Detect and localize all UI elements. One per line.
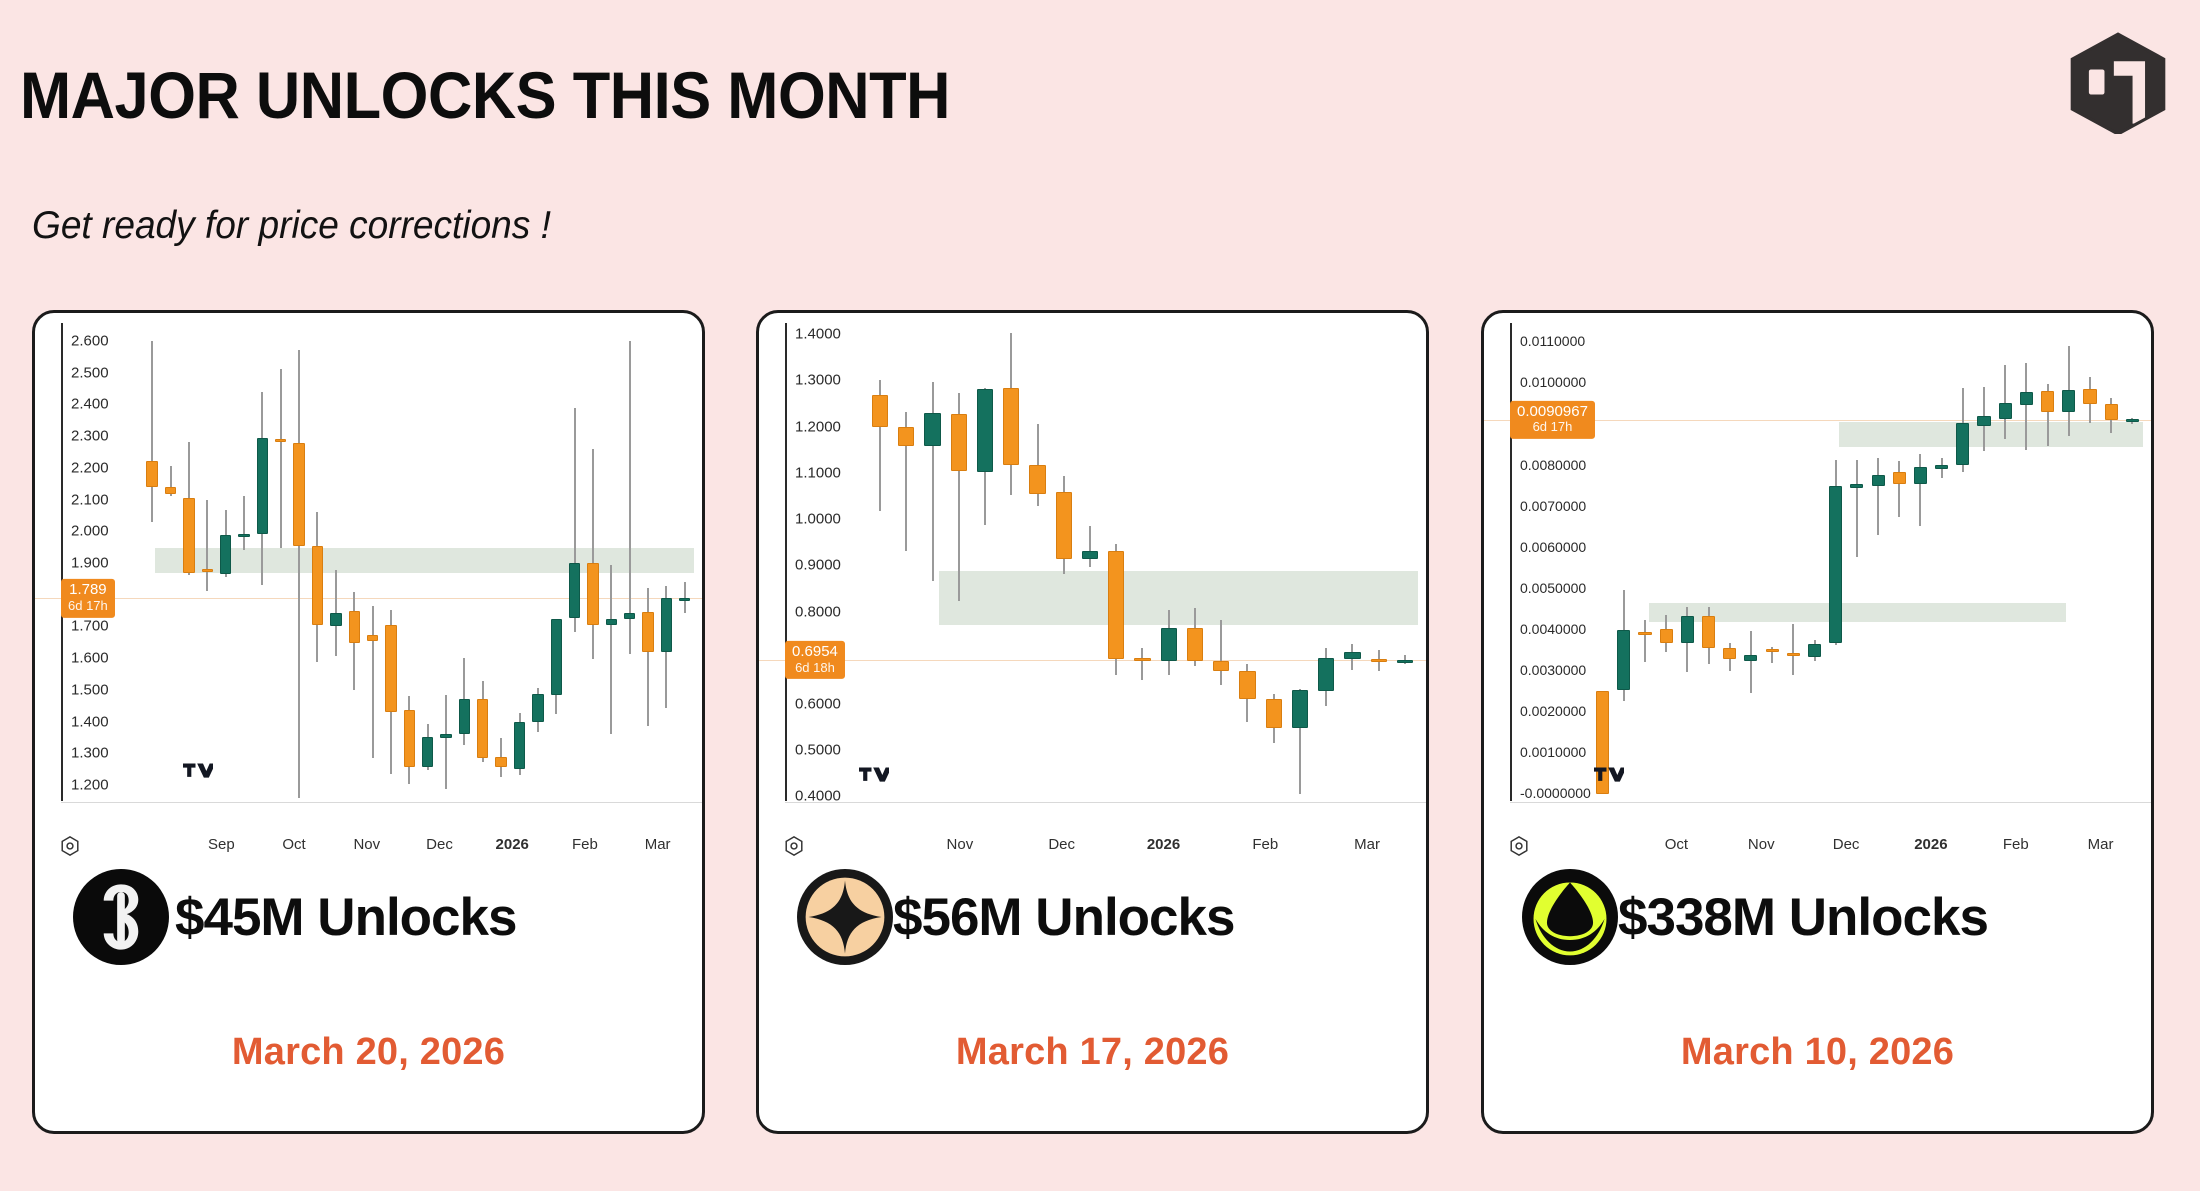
candle-body [951,414,967,471]
candlestick [1029,313,1045,873]
x-axis-line [61,802,702,803]
y-axis-line [785,323,787,801]
candle-body [312,546,323,625]
candle-wick [1141,648,1143,680]
candlestick [1134,313,1150,873]
candle-wick [629,341,631,655]
poster-root: MAJOR UNLOCKS THIS MONTH Get ready for p… [0,0,2200,1191]
y-axis-tick: 1.4000 [795,326,841,343]
candlestick [257,313,268,873]
candlestick [1266,313,1282,873]
candle-wick [1898,461,1900,517]
clock-icon[interactable] [1508,835,1530,857]
candlestick [1681,313,1694,873]
candle-body [1999,403,2012,419]
y-axis-tick: 2.400 [71,396,109,413]
candle-wick [372,606,374,758]
candlestick [1872,313,1885,873]
y-axis-tick: 0.5000 [795,742,841,759]
x-axis-tick: Dec [426,836,453,853]
candle-body [1977,416,1990,426]
coin-row-1: $45M Unlocks [35,869,702,965]
y-axis-tick: 0.6000 [795,695,841,712]
candle-body [661,598,672,653]
candlestick [183,313,194,873]
y-axis-tick: 2.600 [71,332,109,349]
candle-body [1003,388,1019,465]
candle-body [1344,652,1360,658]
candle-body [1829,486,1842,643]
candlestick [951,313,967,873]
candle-wick [1792,624,1794,675]
y-axis-tick: 0.0110000 [1520,333,1585,349]
candle-body [1850,484,1863,488]
y-axis-tick: 0.0040000 [1520,621,1586,637]
candle-body [202,569,213,572]
candlestick [1999,313,2012,873]
candle-wick [1750,631,1752,693]
candle-body [404,710,415,768]
current-price-tag[interactable]: 0.00909676d 17h [1510,400,1595,438]
candlestick [606,313,617,873]
candle-body [257,438,268,535]
candlestick [1344,313,1360,873]
candle-body [2105,404,2118,420]
price-chart-3[interactable]: 0.01100000.01000000.00800000.00700000.00… [1484,313,2151,873]
candlestick [1371,313,1387,873]
candle-body [385,625,396,712]
candle-body [2083,389,2096,404]
candle-body [1702,616,1715,649]
candlestick [238,313,249,873]
price-chart-2[interactable]: 1.40001.30001.20001.10001.00000.90000.80… [759,313,1426,873]
current-price-tag[interactable]: 1.7896d 17h [61,579,115,617]
candlestick [220,313,231,873]
x-axis-tick: Mar [2088,836,2114,853]
candlestick [146,313,157,873]
y-axis-tick: 2.500 [71,364,109,381]
candle-body [275,439,286,442]
candlestick [1187,313,1203,873]
candlestick [1082,313,1098,873]
candlestick [1239,313,1255,873]
candlestick [1893,313,1906,873]
candle-wick [592,449,594,658]
unlock-card-2[interactable]: 1.40001.30001.20001.10001.00000.90000.80… [756,310,1429,1134]
candle-body [642,612,653,652]
hexagon-brand-logo [2064,30,2172,134]
candle-body [330,613,341,626]
y-axis-tick: -0.0000000 [1520,785,1591,801]
candle-body [1617,630,1630,690]
candlestick [2020,313,2033,873]
candlestick [1935,313,1948,873]
candle-wick [445,695,447,789]
candle-body [898,427,914,446]
y-axis-tick: 1.500 [71,681,109,698]
y-axis-tick: 0.0060000 [1520,539,1586,555]
candle-wick [1089,526,1091,568]
x-axis-tick: Nov [947,836,974,853]
pyth-network-coin-icon [1522,869,1618,965]
y-axis-tick: 0.0070000 [1520,498,1586,514]
y-axis-tick: 0.0030000 [1520,662,1586,678]
tradingview-logo [183,761,213,781]
current-price-value: 0.0090967 [1517,402,1588,419]
candle-body [1914,467,1927,484]
candlestick-plot-1 [35,313,702,873]
candlestick [2105,313,2118,873]
candlestick [1956,313,1969,873]
candle-body [238,534,249,537]
candlestick [275,313,286,873]
candlestick [587,313,598,873]
candlestick [1638,313,1651,873]
y-axis-tick: 1.700 [71,618,109,635]
unlock-card-3[interactable]: 0.01100000.01000000.00800000.00700000.00… [1481,310,2154,1134]
candle-body [551,619,562,695]
candle-body [1787,653,1800,656]
candlestick [514,313,525,873]
candlestick [1397,313,1413,873]
candle-body [1872,475,1885,486]
unlock-amount-label: $56M Unlocks [893,887,1234,948]
x-axis-tick: Feb [572,836,598,853]
candlestick [312,313,323,873]
y-axis-tick: 0.8000 [795,603,841,620]
x-axis-tick: Oct [1665,836,1688,853]
candle-wick [298,350,300,798]
y-axis-tick: 0.0010000 [1520,744,1586,760]
y-axis-tick: 0.9000 [795,557,841,574]
unlock-countdown: 6d 17h [1517,420,1588,435]
y-axis-tick: 1.2000 [795,418,841,435]
candle-body [587,563,598,625]
candlestick [661,313,672,873]
candlestick [551,313,562,873]
candle-body [1134,658,1150,661]
candle-body [2041,391,2054,412]
candle-body [606,619,617,624]
candle-body [1082,551,1098,558]
candle-body [459,699,470,734]
candle-body [1397,660,1413,663]
candle-wick [610,565,612,734]
candlestick [440,313,451,873]
candle-body [1893,472,1906,484]
candle-wick [280,369,282,548]
current-price-value: 0.6954 [792,643,838,660]
unlock-date-label: March 10, 2026 [1484,1031,2151,1074]
candle-wick [1919,454,1921,526]
tradingview-logo [1594,765,1624,785]
candlestick [977,313,993,873]
candle-body [1371,659,1387,662]
unlock-countdown: 6d 17h [68,599,108,614]
x-axis-tick: Mar [645,836,671,853]
x-axis-tick: Feb [2003,836,2029,853]
candlestick [624,313,635,873]
x-axis-tick: Feb [1252,836,1278,853]
current-price-value: 1.789 [69,581,107,598]
candlestick [1660,313,1673,873]
candle-body [1744,655,1757,661]
candle-body [146,461,157,487]
candlestick [569,313,580,873]
candle-body [422,737,433,767]
candle-body [1808,644,1821,656]
y-axis-tick: 1.3000 [795,372,841,389]
unlock-amount-label: $45M Unlocks [175,887,516,948]
candlestick [349,313,360,873]
y-axis-tick: 2.000 [71,523,109,540]
candle-body [1213,661,1229,671]
unlock-amount-label: $338M Unlocks [1618,887,1988,948]
candle-body [477,699,488,758]
candlestick [1596,313,1609,873]
candlestick [2083,313,2096,873]
x-axis-tick: 2026 [1147,836,1180,853]
candle-body [1292,690,1308,728]
candle-wick [2025,363,2027,450]
candlestick [1850,313,1863,873]
coin-row-3: $338M Unlocks [1484,869,2151,965]
candle-body [1956,423,1969,465]
coin-row-2: $56M Unlocks [759,869,1426,965]
y-axis-tick: 1.900 [71,555,109,572]
candlestick [2041,313,2054,873]
candle-body [924,413,940,446]
candlestick-plot-2 [759,313,1426,873]
candlestick [459,313,470,873]
candle-body [165,487,176,494]
y-axis-tick: 1.300 [71,745,109,762]
candle-body [569,563,580,618]
candlestick [1292,313,1308,873]
candle-wick [1644,620,1646,662]
clock-icon[interactable] [59,835,81,857]
candlestick [532,313,543,873]
y-axis-tick: 1.400 [71,713,109,730]
candle-body [440,734,451,738]
candle-body [1681,616,1694,644]
candlestick [1829,313,1842,873]
candlestick [1318,313,1334,873]
candlestick [2062,313,2075,873]
candle-wick [151,341,153,522]
candle-wick [1856,460,1858,557]
candlestick [1003,313,1019,873]
candlestick [679,313,690,873]
candlestick [495,313,506,873]
unlock-countdown: 6d 18h [792,660,838,675]
candlestick [477,313,488,873]
candle-body [2126,419,2139,422]
x-axis-tick: 2026 [496,836,529,853]
candlestick [1787,313,1800,873]
page-subtitle: Get ready for price corrections ! [32,204,551,248]
card-grid: 2.6002.5002.4002.3002.2002.1002.0001.900… [0,310,2200,1140]
candle-body [532,694,543,722]
candle-body [1239,671,1255,700]
candlestick [1056,313,1072,873]
y-axis-tick: 0.0020000 [1520,703,1586,719]
candle-body [977,389,993,472]
candle-body [624,613,635,620]
candle-body [293,443,304,546]
candlestick [1617,313,1630,873]
candle-body [1266,699,1282,728]
candlestick [2126,313,2139,873]
y-axis-line [1510,323,1512,801]
candle-body [367,635,378,640]
price-chart-1[interactable]: 2.6002.5002.4002.3002.2002.1002.0001.900… [35,313,702,873]
y-axis-tick: 0.0050000 [1520,580,1586,596]
page-title: MAJOR UNLOCKS THIS MONTH [20,62,950,128]
tradingview-logo [859,765,889,785]
clock-icon[interactable] [783,835,805,857]
candle-body [872,395,888,426]
y-axis-tick: 0.0100000 [1520,374,1586,390]
candle-wick [206,500,208,591]
candle-body [2062,390,2075,412]
current-price-tag[interactable]: 0.69546d 18h [785,641,845,679]
unlock-date-label: March 17, 2026 [759,1031,1426,1074]
x-axis-tick: Nov [353,836,380,853]
candle-body [349,611,360,643]
x-axis-line [785,802,1426,803]
candlestick [1914,313,1927,873]
candlestick [1808,313,1821,873]
candlestick [404,313,415,873]
candlestick [924,313,940,873]
candle-body [1056,492,1072,559]
candle-body [1766,649,1779,652]
candle-wick [1877,458,1879,535]
x-axis-tick: Oct [282,836,305,853]
candle-wick [243,496,245,550]
candlestick [330,313,341,873]
jupiter-jup-coin-icon [797,869,893,965]
candle-wick [1220,620,1222,685]
candlestick [1723,313,1736,873]
candle-body [1935,465,1948,469]
x-axis-tick: Nov [1748,836,1775,853]
x-axis-tick: Dec [1048,836,1075,853]
candle-body [1660,629,1673,642]
x-axis-tick: Dec [1833,836,1860,853]
candlestick [1766,313,1779,873]
candle-body [1108,551,1124,658]
x-axis-tick: Sep [208,836,235,853]
y-axis-tick: 2.300 [71,428,109,445]
candlestick [422,313,433,873]
y-axis-tick: 0.4000 [795,788,841,805]
candlestick [293,313,304,873]
unlock-date-label: March 20, 2026 [35,1031,702,1074]
candle-body [1723,648,1736,659]
candlestick [1108,313,1124,873]
candle-body [679,598,690,601]
y-axis-tick: 1.1000 [795,464,841,481]
y-axis-tick: 1.600 [71,650,109,667]
y-axis-tick: 1.200 [71,777,109,794]
candlestick [872,313,888,873]
candle-body [1029,465,1045,495]
candlestick [385,313,396,873]
x-axis-tick: 2026 [1914,836,1947,853]
y-axis-line [61,323,63,801]
unlock-card-1[interactable]: 2.6002.5002.4002.3002.2002.1002.0001.900… [32,310,705,1134]
candlestick [898,313,914,873]
candle-body [495,757,506,767]
x-axis-line [1510,802,2151,803]
y-axis-tick: 0.0080000 [1520,457,1586,473]
y-axis-tick: 2.200 [71,459,109,476]
y-axis-tick: 2.100 [71,491,109,508]
candlestick [202,313,213,873]
candle-wick [647,588,649,726]
candlestick [1702,313,1715,873]
candlestick [165,313,176,873]
candle-body [1161,628,1177,661]
candle-body [1638,632,1651,635]
candle-body [514,722,525,769]
candle-body [220,535,231,574]
candlestick [1213,313,1229,873]
candlestick [367,313,378,873]
candlestick [1977,313,1990,873]
ethena-ena-coin-icon [73,869,169,965]
candlestick [642,313,653,873]
candle-body [1318,658,1334,691]
y-axis-tick: 1.0000 [795,511,841,528]
candle-body [183,498,194,573]
x-axis-tick: Mar [1354,836,1380,853]
candlestick [1161,313,1177,873]
candlestick [1744,313,1757,873]
candle-body [2020,392,2033,405]
candle-body [1187,628,1203,661]
